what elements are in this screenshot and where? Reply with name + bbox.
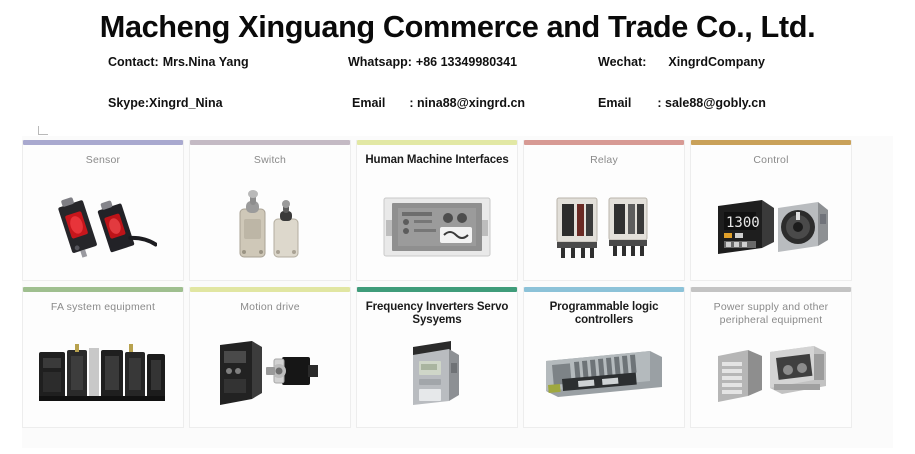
card-accent-bar [23,140,183,145]
card-accent-bar [190,287,350,292]
email-primary-value: : nina88@xingrd.cn [409,96,525,110]
contact-name-value: Mrs.Nina Yang [163,55,249,69]
contact-row-1: Contact: Mrs.Nina Yang Whatsapp: +86 133… [0,55,915,75]
card-title: Programmable logic controllers [524,301,684,327]
contact-name-field: Contact: Mrs.Nina Yang [108,55,249,69]
whatsapp-field: Whatsapp: +86 13349980341 [348,55,517,69]
card-title: Power supply and other peripheral equipm… [691,301,851,327]
card-accent-bar [524,140,684,145]
whatsapp-label: Whatsapp: [348,55,412,69]
email-primary-label: Email [352,96,385,110]
company-header: Macheng Xinguang Commerce and Trade Co.,… [0,0,915,130]
hmi-panel-icon [357,180,517,280]
relay-icon [524,180,684,280]
contact-name-label: Contact: [108,55,159,69]
card-title: Switch [248,154,292,180]
product-category-grid: Sensor [22,140,852,428]
product-card-programmable-logic-controllers[interactable]: Programmable logic controllers [523,287,685,428]
product-card-motion-drive[interactable]: Motion drive [189,287,351,428]
card-title: Control [747,154,794,180]
product-card-relay[interactable]: Relay [523,140,685,281]
card-title: Relay [584,154,624,180]
power-supply-icon [691,327,851,427]
contact-row-2: Skype:Xingrd_Nina Email : nina88@xingrd.… [0,96,915,116]
temperature-controller-icon: 1300 [691,180,851,280]
card-accent-bar [357,140,517,145]
card-accent-bar [23,287,183,292]
product-banner-page: Macheng Xinguang Commerce and Trade Co.,… [0,0,915,454]
card-accent-bar [691,287,851,292]
whatsapp-value: +86 13349980341 [416,55,517,69]
product-card-switch[interactable]: Switch [189,140,351,281]
card-accent-bar [524,287,684,292]
card-title: FA system equipment [45,301,161,327]
wechat-label: Wechat: [598,55,646,69]
wechat-field: Wechat: XingrdCompany [598,55,765,69]
page-title: Macheng Xinguang Commerce and Trade Co.,… [5,9,911,45]
email-secondary-field: Email : sale88@gobly.cn [598,96,766,110]
email-secondary-label: Email [598,96,631,110]
skype-field: Skype:Xingrd_Nina [108,96,227,110]
card-accent-bar [357,287,517,292]
card-title: Motion drive [234,301,306,327]
limit-switch-icon [190,180,350,280]
product-card-power-supply[interactable]: Power supply and other peripheral equipm… [690,287,852,428]
inverter-icon [357,327,517,427]
email-primary-field: Email : nina88@xingrd.cn [352,96,525,110]
skype-label: Skype:Xingrd_Nina [108,96,223,110]
crop-mark [38,126,48,135]
card-title: Human Machine Interfaces [359,154,514,180]
product-card-frequency-inverters[interactable]: Frequency Inverters Servo Sysyems [356,287,518,428]
fa-system-icon [23,327,183,427]
card-accent-bar [190,140,350,145]
product-card-fa-system-equipment[interactable]: FA system equipment [22,287,184,428]
card-accent-bar [691,140,851,145]
wechat-value: XingrdCompany [668,55,765,69]
product-card-human-machine-interfaces[interactable]: Human Machine Interfaces [356,140,518,281]
email-secondary-value: : sale88@gobly.cn [657,96,766,110]
svg-text:1300: 1300 [726,215,760,231]
photoelectric-sensor-icon [23,180,183,280]
card-title: Frequency Inverters Servo Sysyems [357,301,517,327]
product-card-control[interactable]: Control 1300 [690,140,852,281]
product-card-sensor[interactable]: Sensor [22,140,184,281]
servo-drive-icon [190,327,350,427]
card-title: Sensor [80,154,126,180]
plc-icon [524,327,684,427]
